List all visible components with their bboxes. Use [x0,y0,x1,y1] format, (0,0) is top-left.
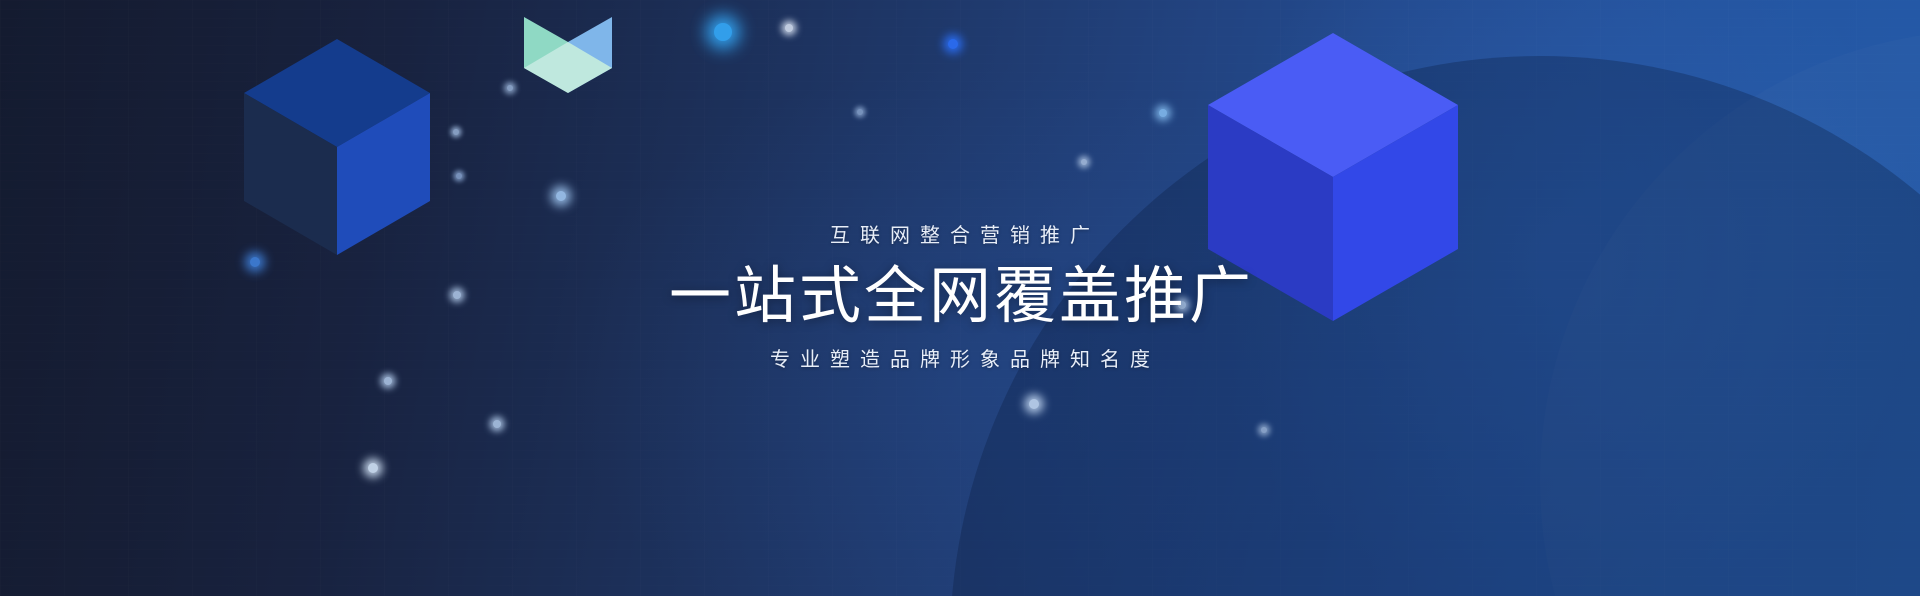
particle-dot [785,24,793,32]
background-glow-right [1180,0,1920,596]
background-band-texture-vertical [0,0,1920,596]
particle-dot [453,291,461,299]
particle-dot [1029,399,1039,409]
particle-dot [456,173,462,179]
background-glow-center [560,60,1380,596]
particle-dot [857,109,863,115]
particle-dot [1159,109,1167,117]
promo-banner: 互联网整合营销推广 一站式全网覆盖推广 专业塑造品牌形象品牌知名度 [0,0,1920,596]
banner-headline: 一站式全网覆盖推广 [666,262,1254,331]
particle-dot [1261,427,1267,433]
particle-dot [948,39,958,49]
decorative-cube-mint [524,0,612,94]
banner-tagline: 互联网整合营销推广 [820,226,1100,246]
particle-dot [384,377,392,385]
particle-dot [1178,301,1186,309]
banner-text-block: 互联网整合营销推广 一站式全网覆盖推广 专业塑造品牌形象品牌知名度 [0,0,1920,596]
particle-dot [493,420,501,428]
background-arc-sweep [950,56,1920,596]
particle-dot [250,257,260,267]
decorative-cube-bright-blue [1208,33,1458,323]
background-arc-highlight [1540,30,1920,596]
banner-subtitle: 专业塑造品牌形象品牌知名度 [760,350,1160,370]
particle-dot [453,129,459,135]
decorative-cube-dark-blue [244,39,430,257]
background-band-texture-horizontal [0,0,1920,596]
particle-dot [1081,159,1087,165]
particle-dot [507,85,513,91]
particle-dot [556,191,566,201]
particle-dot [368,463,378,473]
particle-dot [714,23,732,41]
